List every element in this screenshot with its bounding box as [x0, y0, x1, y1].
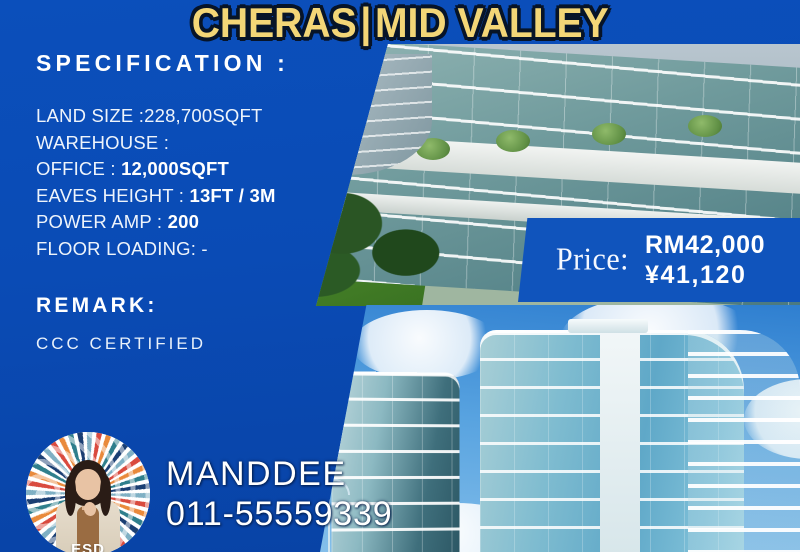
spec-value: 12,000SQFT	[121, 158, 229, 179]
spec-label: WAREHOUSE :	[36, 132, 169, 153]
photo-bottom-tower-core	[600, 327, 640, 552]
price-primary-value: RM42,000	[645, 231, 765, 260]
remark-heading: REMARK:	[36, 294, 366, 318]
spec-label: OFFICE :	[36, 158, 121, 179]
price-values: RM42,000 ¥41,120	[645, 231, 765, 290]
spec-item-warehouse: WAREHOUSE :	[36, 130, 366, 157]
specification-list: LAND SIZE :228,700SQFT WAREHOUSE : OFFIC…	[36, 103, 366, 262]
agent-avatar: ESD	[26, 432, 150, 552]
agent-phone-number[interactable]: 011-55559339	[166, 497, 392, 531]
spec-item-land-size: LAND SIZE :228,700SQFT	[36, 103, 366, 130]
price-label: Price:	[556, 242, 629, 278]
agent-contact-block: ESD MANDDEE 011-55559339	[26, 432, 392, 552]
agent-name: MANDDEE	[166, 457, 392, 491]
avatar-hair-right	[100, 476, 111, 516]
specification-panel: SPECIFICATION : LAND SIZE :228,700SQFT W…	[36, 50, 366, 354]
spec-value: 13FT / 3M	[189, 185, 275, 206]
avatar-person-photo	[55, 456, 121, 552]
photo-top-planter	[592, 123, 626, 145]
property-advertisement-poster: CHERAS|MID VALLEY SPECIFICATION : LAND S…	[0, 0, 800, 552]
spec-item-eaves-height: EAVES HEIGHT : 13FT / 3M	[36, 183, 366, 210]
agent-info: MANDDEE 011-55559339	[166, 457, 392, 531]
spec-value: 228,700SQFT	[144, 105, 262, 126]
spec-item-floor-loading: FLOOR LOADING: -	[36, 236, 366, 263]
spec-label: POWER AMP :	[36, 211, 168, 232]
avatar-logo-text: ESD	[71, 541, 105, 552]
specification-heading: SPECIFICATION :	[36, 50, 366, 77]
photo-bottom-tower-right-ribs	[688, 330, 800, 552]
spec-label: FLOOR LOADING: -	[36, 238, 208, 259]
spec-item-power-amp: POWER AMP : 200	[36, 209, 366, 236]
avatar-face	[75, 469, 101, 500]
photo-top-planter	[688, 115, 722, 137]
price-secondary-value: ¥41,120	[645, 261, 765, 290]
remark-text: CCC CERTIFIED	[36, 334, 366, 354]
spec-item-office: OFFICE : 12,000SQFT	[36, 156, 366, 183]
photo-bottom-roof-structure	[568, 319, 648, 334]
spec-label: EAVES HEIGHT :	[36, 185, 189, 206]
price-box: Price: RM42,000 ¥41,120	[518, 218, 800, 302]
spec-value: 200	[168, 211, 199, 232]
spec-label: LAND SIZE :	[36, 105, 144, 126]
avatar-hair-left	[65, 476, 76, 516]
